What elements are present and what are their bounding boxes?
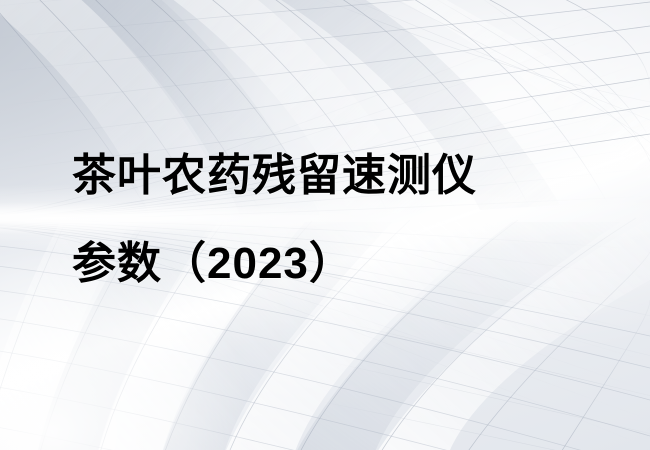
banner-title-line-1: 茶叶农药残留速测仪 — [72, 132, 612, 220]
banner-image: 茶叶农药残留速测仪 参数（2023） — [0, 0, 650, 450]
banner-title: 茶叶农药残留速测仪 参数（2023） — [72, 132, 612, 308]
banner-title-line-2: 参数（2023） — [72, 220, 612, 308]
